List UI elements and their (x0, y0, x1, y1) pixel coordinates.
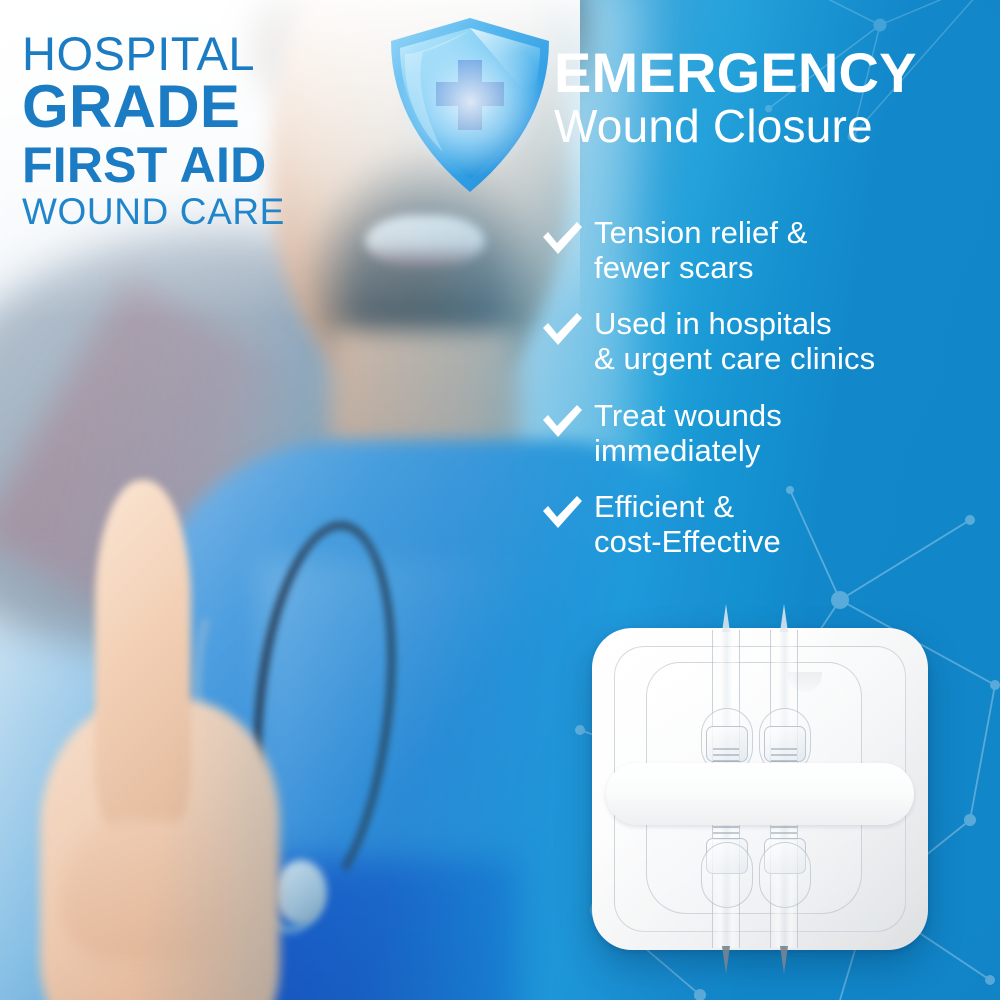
list-item: Treat wounds immediately (540, 399, 1000, 468)
strap-tip (780, 604, 788, 632)
checkmark-icon (540, 219, 584, 259)
headline-line-first-aid: FIRST AID (22, 139, 352, 192)
list-item: Tension relief & fewer scars (540, 216, 1000, 285)
headline-line-wound-care: WOUND CARE (22, 192, 352, 233)
strap-loop (759, 842, 811, 908)
white-release-strip (606, 763, 914, 825)
benefit-text: Efficient & cost-Effective (594, 490, 781, 559)
checkmark-icon (540, 402, 584, 442)
headline-line-grade: GRADE (22, 76, 352, 138)
strap-tip (780, 946, 788, 974)
headline-line-hospital: HOSPITAL (22, 32, 352, 76)
benefit-text: Tension relief & fewer scars (594, 216, 808, 285)
strap-tip (722, 604, 730, 632)
benefit-text: Treat wounds immediately (594, 399, 782, 468)
promotional-banner: HOSPITAL GRADE FIRST AID WOUND CARE (0, 0, 1000, 1000)
benefit-text: Used in hospitals & urgent care clinics (594, 307, 875, 376)
list-item: Used in hospitals & urgent care clinics (540, 307, 1000, 376)
right-headline-block: EMERGENCY Wound Closure (554, 44, 994, 153)
logo-container (383, 14, 558, 196)
checkmark-icon (540, 310, 584, 350)
product-image (592, 628, 928, 950)
headline-emergency: EMERGENCY (554, 44, 994, 101)
benefits-list: Tension relief & fewer scars Used in hos… (540, 216, 1000, 582)
strap-tip (722, 946, 730, 974)
headline-wound-closure: Wound Closure (554, 101, 994, 153)
strap-loop (701, 842, 753, 908)
list-item: Efficient & cost-Effective (540, 490, 1000, 559)
shield-glow (367, 2, 574, 210)
checkmark-icon (540, 493, 584, 533)
left-headline-block: HOSPITAL GRADE FIRST AID WOUND CARE (22, 32, 352, 232)
